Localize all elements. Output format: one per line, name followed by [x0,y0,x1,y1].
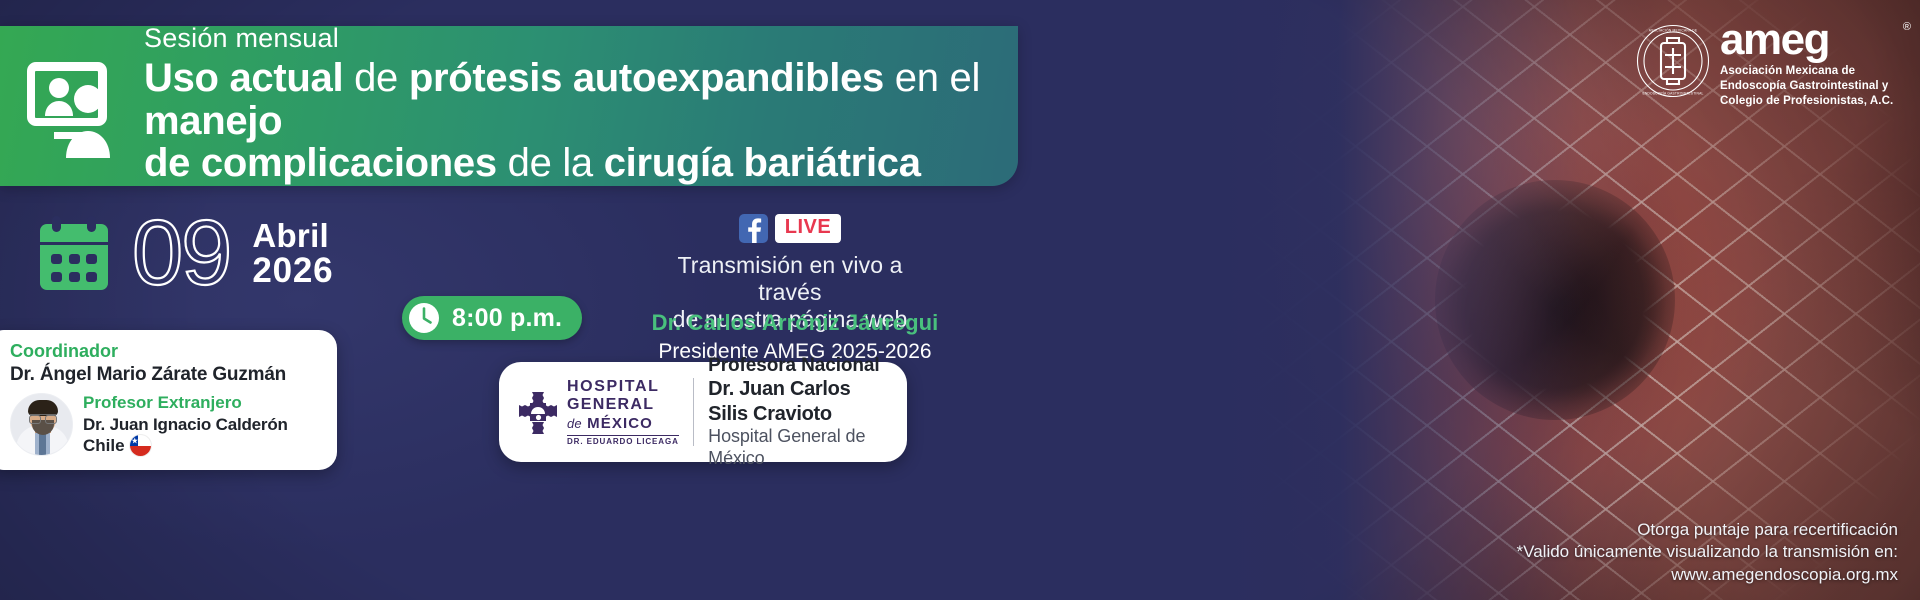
event-year: 2026 [252,253,333,289]
title-seg-8: cirugía bariátrica [604,141,921,185]
professor-row: Profesor Extranjero Dr. Juan Ignacio Cal… [10,393,325,456]
speaker-photo [10,393,73,456]
hospital-speaker-kicker: Profesora Nacional [708,354,893,377]
ameg-desc-line-1: Asociación Mexicana de [1720,64,1902,79]
hospital-logo-mexico: MÉXICO [587,415,653,432]
hospital-logo: HOSPITAL GENERAL de MÉXICO DR. EDUARDO L… [517,378,679,447]
professor-kicker: Profesor Extranjero [83,393,288,414]
footer-website: www.amegendoscopia.org.mx [1517,564,1898,586]
professor-info: Profesor Extranjero Dr. Juan Ignacio Cal… [83,393,288,456]
session-title-line-1: Uso actual de prótesis autoexpandibles e… [144,57,1018,142]
professor-country-row: Chile ★ [83,435,288,456]
session-title: Uso actual de prótesis autoexpandibles e… [144,57,1018,184]
footer-line-1: Otorga puntaje para recertificación [1517,519,1898,541]
header-panel: Sesión mensual Uso actual de prótesis au… [0,26,1018,186]
title-seg-6: de complicaciones [144,141,508,185]
webinar-screen-icon [26,54,126,158]
president-name: Dr. Carlos Arróniz Jáuregui [560,310,1030,336]
hospital-logo-de: de [567,416,582,431]
ameg-desc-line-2: Endoscopía Gastrointestinal y [1720,79,1902,94]
hospital-speaker-name: Dr. Juan Carlos Silis Cravioto [708,377,893,426]
calendar-icon [38,216,110,292]
event-day: 09 [132,214,230,293]
title-seg-1: Uso actual [144,56,354,100]
ameg-logo: ASOCIACIÓN MEXICANA DE ENDOSCOPÍA GASTRO… [1636,14,1902,109]
svg-text:ENDOSCOPÍA GASTROINTESTINAL: ENDOSCOPÍA GASTROINTESTINAL [1642,92,1703,96]
facebook-icon[interactable] [739,214,768,243]
ameg-text-block: ameg ® Asociación Mexicana de Endoscopía… [1720,14,1902,109]
ameg-desc-line-3: Colegio de Profesionistas, A.C. [1720,94,1902,109]
event-time: 8:00 p.m. [452,304,562,333]
coordinator-name: Dr. Ángel Mario Zárate Guzmán [10,363,325,387]
coordinator-card: Coordinador Dr. Ángel Mario Zárate Guzmá… [0,330,337,470]
event-date-block: 09 Abril 2026 [38,214,333,293]
event-month: Abril [252,219,333,253]
title-seg-4: en el [895,56,980,100]
hospital-logo-line-3: de MÉXICO [567,415,679,432]
svg-text:ASOCIACIÓN MEXICANA DE: ASOCIACIÓN MEXICANA DE [1649,28,1698,33]
hospital-cross-icon [517,390,559,434]
hospital-speaker-org: Hospital General de México [708,426,893,470]
hospital-card-divider [693,378,694,446]
event-month-year: Abril 2026 [252,219,333,288]
hospital-logo-wordmark: HOSPITAL GENERAL de MÉXICO DR. EDUARDO L… [567,378,679,447]
hospital-speaker-info: Profesora Nacional Dr. Juan Carlos Silis… [708,354,893,470]
session-label: Sesión mensual [144,24,1018,54]
registered-mark: ® [1903,21,1911,33]
recertification-note: Otorga puntaje para recertificación *Val… [1517,519,1898,586]
hospital-logo-line-2: GENERAL [567,396,679,415]
coordinator-kicker: Coordinador [10,341,325,363]
svg-text:ameg: ameg [1720,18,1829,64]
hospital-logo-line-1: HOSPITAL [567,378,679,397]
footer-line-2: *Valido únicamente visualizando la trans… [1517,541,1898,563]
professor-country: Chile [83,435,125,456]
title-seg-7: de la [508,141,604,185]
hospital-card: HOSPITAL GENERAL de MÉXICO DR. EDUARDO L… [499,362,907,462]
professor-name: Dr. Juan Ignacio Calderón [83,414,288,435]
title-seg-3: prótesis autoexpandibles [409,56,895,100]
hospital-logo-divider [567,435,679,436]
facebook-live-row: LIVE [665,214,915,243]
chile-flag-icon: ★ [130,435,151,456]
event-time-badge: 8:00 p.m. [402,296,582,340]
live-badge: LIVE [775,214,841,243]
broadcast-line-1: Transmisión en vivo a través [665,252,915,306]
title-seg-2: de [354,56,409,100]
header-text-block: Sesión mensual Uso actual de prótesis au… [144,24,1018,189]
ameg-description: Asociación Mexicana de Endoscopía Gastro… [1720,64,1902,109]
ameg-wordmark: ameg ® [1720,18,1902,64]
clock-icon [407,301,441,335]
hospital-logo-subtitle: DR. EDUARDO LICEAGA [567,438,679,446]
title-seg-5: manejo [144,99,282,143]
ameg-seal-icon: ASOCIACIÓN MEXICANA DE ENDOSCOPÍA GASTRO… [1636,24,1710,98]
session-title-line-2: de complicaciones de la cirugía bariátri… [144,142,1018,184]
